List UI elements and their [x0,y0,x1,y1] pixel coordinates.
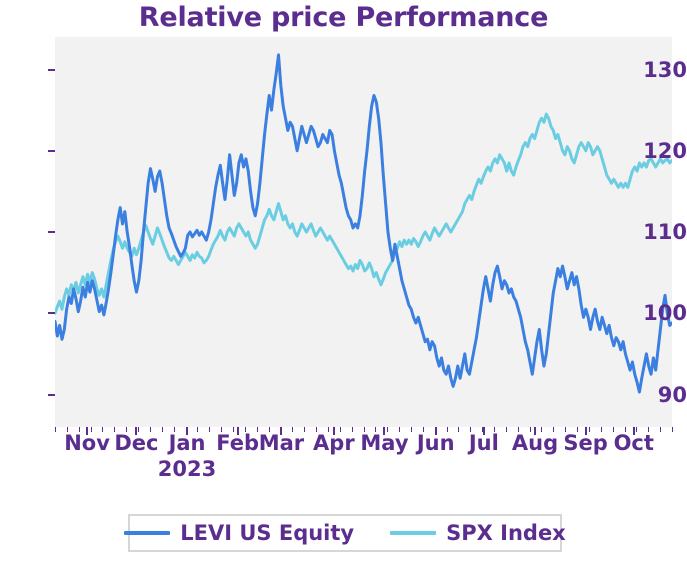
x-axis-minor-tick [55,427,56,432]
x-axis-minor-tick [577,427,578,432]
x-axis-tick-mark [633,427,635,435]
legend-item-levi[interactable]: LEVI US Equity [124,521,354,545]
x-axis-minor-tick [340,427,341,432]
y-axis-tick-label: 110 [641,220,687,244]
x-axis-minor-tick [672,427,673,432]
x-axis-minor-tick [589,427,590,432]
x-axis-tick-mark [383,427,385,435]
y-axis-tick-mark [48,150,55,152]
x-axis-minor-tick [648,427,649,432]
y-axis-tick-mark [48,394,55,396]
legend-label-spx: SPX Index [446,521,566,545]
x-axis-minor-tick [364,427,365,432]
y-axis-tick-label: 90 [641,383,687,407]
x-axis-year-label: 2023 [158,457,216,481]
x-axis-minor-tick [186,427,187,432]
x-axis-minor-tick [292,427,293,432]
x-axis-minor-tick [541,427,542,432]
x-axis-minor-tick [435,427,436,432]
x-axis-minor-tick [375,427,376,432]
x-axis-minor-tick [470,427,471,432]
x-axis-minor-tick [458,427,459,432]
x-axis-minor-tick [233,427,234,432]
x-axis-minor-tick [494,427,495,432]
x-axis-minor-tick [126,427,127,432]
legend-item-spx[interactable]: SPX Index [390,521,566,545]
x-axis-minor-tick [304,427,305,432]
chart-legend: LEVI US Equity SPX Index [128,514,562,552]
y-axis-tick-mark [48,231,55,233]
x-axis-minor-tick [447,427,448,432]
x-axis-minor-tick [565,427,566,432]
y-axis-tick-label: 100 [641,301,687,325]
x-axis-tick-mark [585,427,587,435]
legend-label-levi: LEVI US Equity [180,521,354,545]
series-line-spx [55,114,672,313]
x-axis-minor-tick [625,427,626,432]
x-axis-minor-tick [328,427,329,432]
x-axis-minor-tick [102,427,103,432]
y-axis-tick-mark [48,69,55,71]
x-axis-minor-tick [601,427,602,432]
y-axis-tick-mark [48,312,55,314]
x-axis-minor-tick [518,427,519,432]
plot-area [55,37,672,427]
x-axis-minor-tick [636,427,637,432]
x-axis-minor-tick [269,427,270,432]
legend-swatch-spx [390,531,436,535]
x-axis-minor-tick [423,427,424,432]
x-axis-minor-tick [482,427,483,432]
x-axis-tick-mark [534,427,536,435]
x-axis-minor-tick [506,427,507,432]
legend-swatch-levi [124,531,170,535]
y-axis-tick-label: 130 [641,58,687,82]
x-axis-minor-tick [280,427,281,432]
x-axis-minor-tick [316,427,317,432]
x-axis-minor-tick [79,427,80,432]
x-axis-minor-tick [138,427,139,432]
x-axis-minor-tick [197,427,198,432]
x-axis-minor-tick [257,427,258,432]
x-axis-minor-tick [150,427,151,432]
y-axis-tick-label: 120 [641,139,687,163]
x-axis-minor-tick [91,427,92,432]
x-axis-minor-tick [530,427,531,432]
x-axis-minor-tick [553,427,554,432]
x-axis-minor-tick [387,427,388,432]
x-axis-tick-mark [333,427,335,435]
x-axis-minor-tick [174,427,175,432]
series-line-levi [55,55,672,392]
x-axis-minor-tick [660,427,661,432]
x-axis-minor-tick [613,427,614,432]
x-axis-minor-tick [352,427,353,432]
x-axis-minor-tick [245,427,246,432]
x-axis-minor-tick [411,427,412,432]
x-axis-minor-tick [221,427,222,432]
x-axis-minor-tick [162,427,163,432]
x-axis-minor-tick [399,427,400,432]
x-axis-tick-mark [237,427,239,435]
x-axis-minor-tick [67,427,68,432]
chart-container: Relative price Performance 2023 LEVI US … [0,0,687,568]
x-axis-tick-mark [86,427,88,435]
x-axis-minor-tick [209,427,210,432]
x-axis-minor-tick [114,427,115,432]
chart-title: Relative price Performance [0,2,687,33]
plot-svg [55,37,672,427]
